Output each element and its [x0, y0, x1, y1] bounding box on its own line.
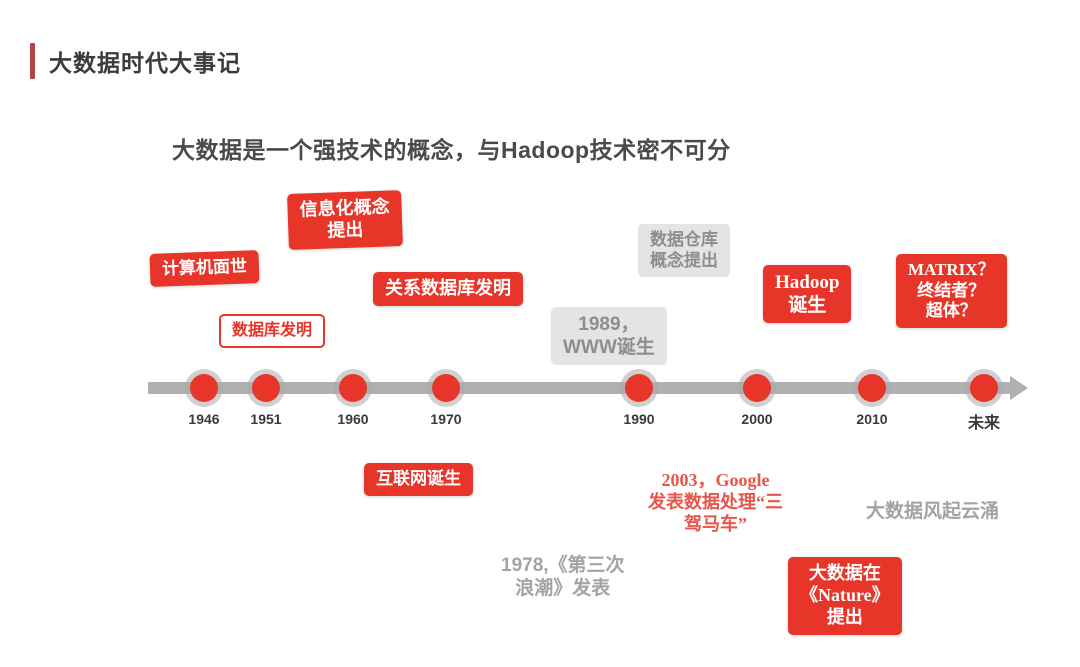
event-bigdata-nature[interactable]: 大数据在 《Nature》 提出 — [788, 557, 902, 635]
timeline-node-dot — [858, 374, 886, 402]
timeline-node-dot — [432, 374, 460, 402]
timeline-node-label: 未来 — [968, 409, 1000, 433]
event-database-invented[interactable]: 数据库发明 — [219, 314, 325, 348]
timeline-node-label: 2000 — [741, 411, 772, 427]
event-data-warehouse[interactable]: 数据仓库 概念提出 — [638, 224, 730, 277]
page-title: 大数据时代大事记 — [49, 44, 241, 78]
timeline-axis — [148, 382, 1028, 394]
event-informatization-concept[interactable]: 信息化概念 提出 — [287, 190, 403, 250]
event-www-born[interactable]: 1989， WWW诞生 — [551, 307, 667, 365]
event-google-three-papers[interactable]: 2003，Google 发表数据处理“三 驾马车” — [648, 470, 783, 536]
timeline-node-dot — [190, 374, 218, 402]
event-bigdata-surge[interactable]: 大数据风起云涌 — [866, 500, 999, 523]
timeline-node-label: 1960 — [337, 411, 368, 427]
page-header: 大数据时代大事记 — [30, 43, 241, 79]
timeline-node-dot — [970, 374, 998, 402]
event-hadoop-born[interactable]: Hadoop 诞生 — [763, 265, 851, 323]
timeline-node-label: 1946 — [188, 411, 219, 427]
event-matrix-future[interactable]: MATRIX？ 终结者？ 超体？ — [896, 254, 1007, 328]
title-accent-bar — [30, 43, 35, 79]
slide-canvas: 大数据时代大事记 大数据是一个强技术的概念，与Hadoop技术密不可分 1946… — [0, 0, 1080, 667]
timeline-node-label: 2010 — [856, 411, 887, 427]
event-computer-born[interactable]: 计算机面世 — [149, 250, 259, 287]
event-internet-born[interactable]: 互联网诞生 — [364, 463, 473, 496]
event-relational-database[interactable]: 关系数据库发明 — [373, 272, 523, 306]
timeline-node-dot — [252, 374, 280, 402]
timeline-node-dot — [625, 374, 653, 402]
timeline-node-dot — [743, 374, 771, 402]
timeline-node-label: 1970 — [430, 411, 461, 427]
timeline-node-label: 1990 — [623, 411, 654, 427]
event-third-wave[interactable]: 1978,《第三次 浪潮》发表 — [501, 554, 625, 600]
subtitle-text: 大数据是一个强技术的概念，与Hadoop技术密不可分 — [172, 131, 731, 165]
timeline-node-dot — [339, 374, 367, 402]
timeline-arrow-icon — [1010, 376, 1028, 400]
timeline-node-label: 1951 — [250, 411, 281, 427]
